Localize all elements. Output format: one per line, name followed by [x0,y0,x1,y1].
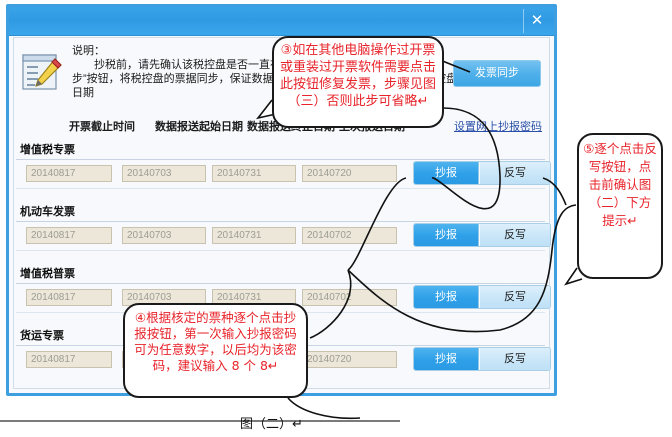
annotation-callout-4: ④根据核定的票种逐个点击抄报按钮，第一次输入抄报密码可为任意数字，以后均为该密码… [123,303,308,398]
annotation-callout-5: ⑤逐个点击反写按钮，点击前确认图（二）下方提示↵ [577,133,663,279]
annotation-callout-3: ③如在其他电脑操作过开票或重装过开票软件需要点击此按钮修复发票，步骤见图（三）否… [272,36,444,128]
